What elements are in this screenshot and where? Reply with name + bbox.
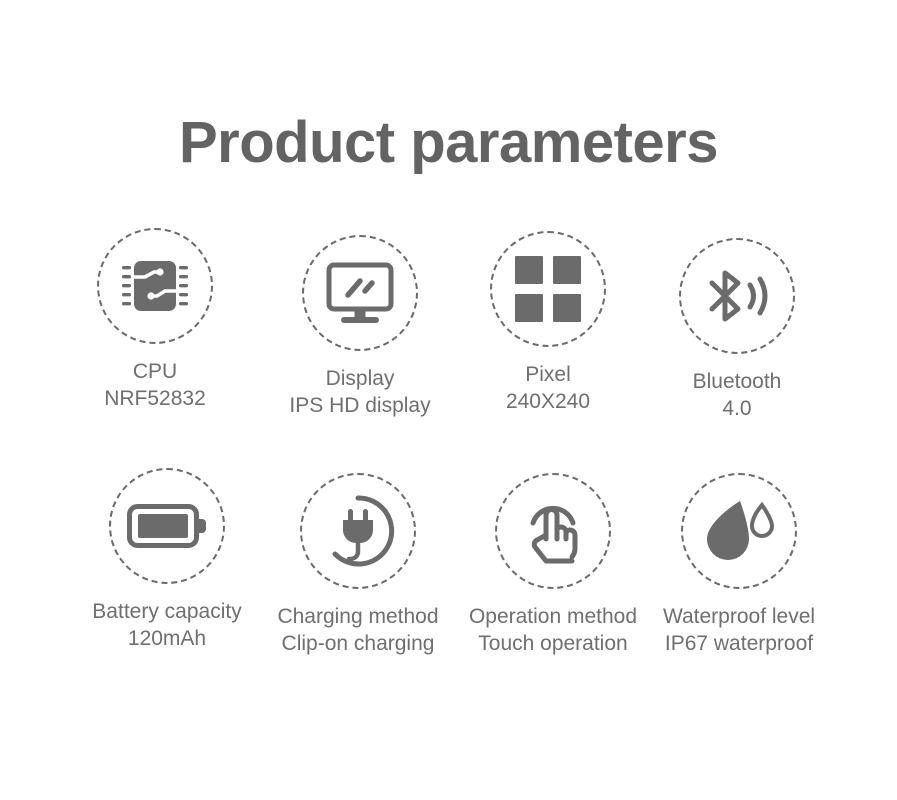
spec-label: CPU: [40, 358, 270, 385]
battery-badge: [109, 468, 225, 584]
touch-hand-icon: [517, 493, 589, 569]
bluetooth-badge: [679, 238, 795, 354]
water-drop-icon: [702, 493, 776, 569]
spec-item-bluetooth: Bluetooth 4.0: [622, 238, 852, 422]
battery-icon: [127, 500, 207, 552]
power-plug-icon: [320, 493, 396, 569]
spec-value: IP67 waterproof: [624, 630, 854, 657]
spec-item-cpu: CPU NRF52832: [40, 228, 270, 412]
spec-item-waterproof: Waterproof level IP67 waterproof: [624, 473, 854, 657]
spec-value: 4.0: [622, 395, 852, 422]
pixel-grid-icon: [515, 256, 581, 322]
product-parameters-page: Product parameters: [0, 0, 897, 800]
spec-label: Waterproof level: [624, 603, 854, 630]
charging-badge: [300, 473, 416, 589]
pixel-badge: [490, 231, 606, 347]
spec-label: Bluetooth: [622, 368, 852, 395]
cpu-badge: [97, 228, 213, 344]
operation-badge: [495, 473, 611, 589]
cpu-chip-icon: [118, 249, 192, 323]
bluetooth-icon: [700, 259, 774, 333]
page-title: Product parameters: [0, 108, 897, 178]
spec-value: NRF52832: [40, 385, 270, 412]
waterproof-badge: [681, 473, 797, 589]
monitor-display-icon: [322, 257, 398, 329]
display-badge: [302, 235, 418, 351]
